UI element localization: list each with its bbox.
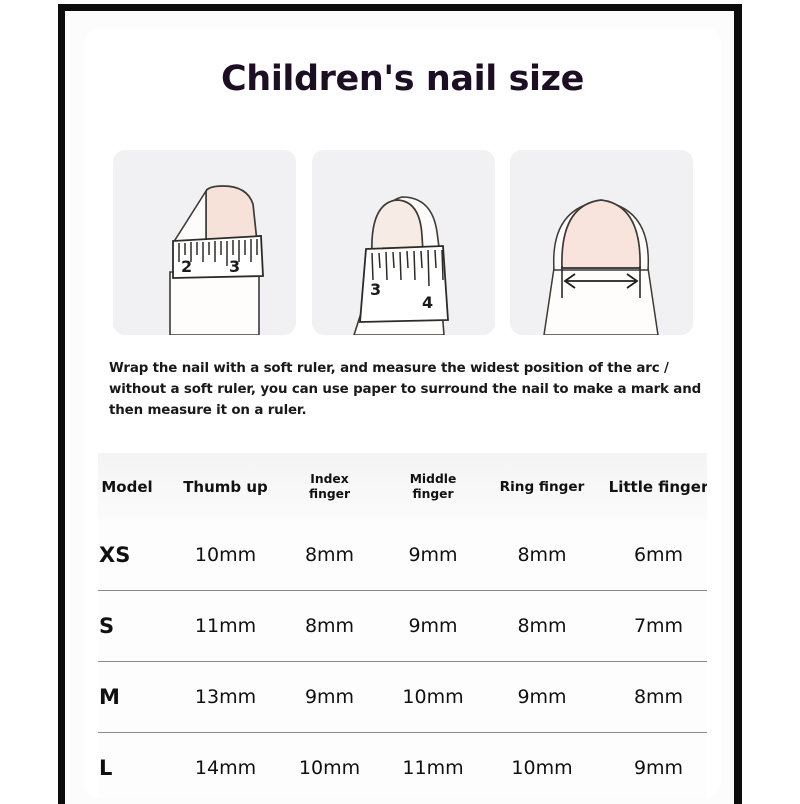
cell-index: 8mm xyxy=(281,591,378,662)
table-row: M 13mm 9mm 10mm 9mm 8mm xyxy=(84,662,721,733)
column-header-model: Model xyxy=(84,453,170,520)
column-header-middle-line1: Middle xyxy=(410,472,457,486)
finger-tape-measure-icon: 3 4 xyxy=(354,197,448,335)
cell-model: M xyxy=(84,662,170,733)
illustration-panel-finger-ruler-3-4: 3 4 xyxy=(312,150,495,335)
double-arrow-measure-icon xyxy=(544,200,658,335)
column-header-middle-finger: Middle finger xyxy=(378,453,488,520)
cell-middle: 10mm xyxy=(378,662,488,733)
size-table-head: Model Thumb up Index finger Middle finge… xyxy=(84,453,721,520)
cell-little: 6mm xyxy=(596,520,721,591)
column-header-index-line2: finger xyxy=(309,487,350,501)
column-header-ring-finger: Ring finger xyxy=(488,453,596,520)
cell-ring: 9mm xyxy=(488,662,596,733)
illustration-panel-nail-width xyxy=(510,150,693,335)
content-card: Children's nail size xyxy=(84,28,721,798)
cell-model: XS xyxy=(84,520,170,591)
ruler-tick-label: 4 xyxy=(422,293,433,312)
table-row: S 11mm 8mm 9mm 8mm 7mm xyxy=(84,591,721,662)
table-header-row: Model Thumb up Index finger Middle finge… xyxy=(84,453,721,520)
cell-ring: 10mm xyxy=(488,733,596,799)
cell-little: 8mm xyxy=(596,662,721,733)
finger-tape-measure-icon: 2 3 xyxy=(170,186,263,335)
cell-index: 9mm xyxy=(281,662,378,733)
cell-model: L xyxy=(84,733,170,799)
cell-thumb: 10mm xyxy=(170,520,281,591)
illustration-panel-finger-ruler-2-3: 2 3 xyxy=(113,150,296,335)
size-table: Model Thumb up Index finger Middle finge… xyxy=(84,453,721,798)
cell-little: 9mm xyxy=(596,733,721,799)
frame-inner-surface: Children's nail size xyxy=(65,11,734,804)
poster-page: Children's nail size xyxy=(0,0,800,800)
table-row: XS 10mm 8mm 9mm 8mm 6mm xyxy=(84,520,721,591)
cell-model: S xyxy=(84,591,170,662)
cell-index: 10mm xyxy=(281,733,378,799)
cell-ring: 8mm xyxy=(488,591,596,662)
cell-thumb: 13mm xyxy=(170,662,281,733)
cell-thumb: 11mm xyxy=(170,591,281,662)
ruler-tick-label: 2 xyxy=(181,257,192,276)
column-header-index-line1: Index xyxy=(310,472,348,486)
black-photo-frame: Children's nail size xyxy=(58,4,742,804)
cell-middle: 11mm xyxy=(378,733,488,799)
page-title: Children's nail size xyxy=(84,59,721,99)
table-row: L 14mm 10mm 11mm 10mm 9mm xyxy=(84,733,721,799)
cell-middle: 9mm xyxy=(378,520,488,591)
cell-index: 8mm xyxy=(281,520,378,591)
column-header-thumb-up: Thumb up xyxy=(170,453,281,520)
size-table-body: XS 10mm 8mm 9mm 8mm 6mm S 11mm 8mm xyxy=(84,520,721,798)
size-table-wrapper: Model Thumb up Index finger Middle finge… xyxy=(84,453,721,798)
column-header-little-finger: Little finger xyxy=(596,453,721,520)
cell-little: 7mm xyxy=(596,591,721,662)
cell-ring: 8mm xyxy=(488,520,596,591)
column-header-index-finger: Index finger xyxy=(281,453,378,520)
column-header-middle-line2: finger xyxy=(412,487,453,501)
cell-thumb: 14mm xyxy=(170,733,281,799)
illustration-row: 2 3 xyxy=(113,150,693,335)
cell-middle: 9mm xyxy=(378,591,488,662)
ruler-tick-label: 3 xyxy=(370,280,381,299)
ruler-tick-label: 3 xyxy=(229,257,240,276)
measurement-instructions: Wrap the nail with a soft ruler, and mea… xyxy=(109,358,701,421)
